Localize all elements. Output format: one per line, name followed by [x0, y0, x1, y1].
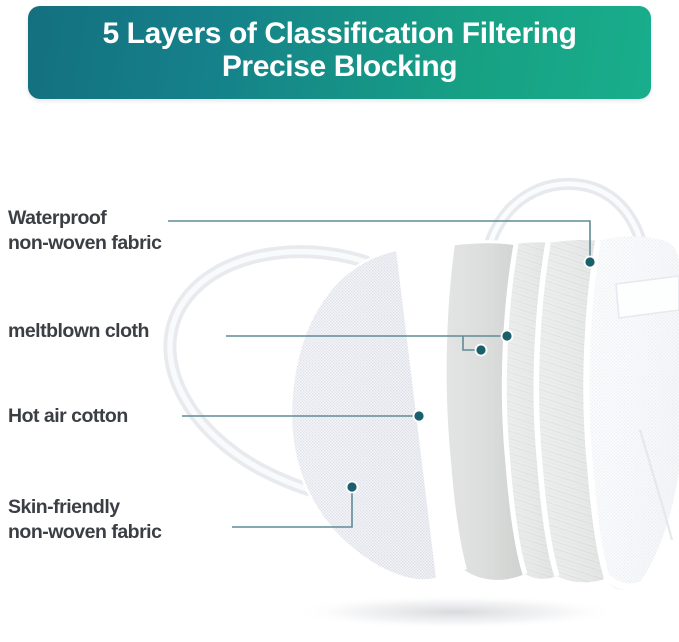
layer-2-hot-air-cotton	[291, 242, 525, 581]
callout-meltblown-line1: meltblown cloth	[8, 319, 149, 344]
leader-line-hot-air-cotton	[182, 410, 425, 423]
ear-loop-left	[170, 252, 366, 502]
header-banner: 5 Layers of Classification Filtering Pre…	[28, 6, 651, 99]
banner-title-line2: Precise Blocking	[222, 51, 457, 83]
leader-dot-meltblown-1	[502, 331, 511, 340]
callout-label-waterproof: Waterproof non-woven fabric	[8, 206, 161, 256]
callout-skin-line2: non-woven fabric	[8, 520, 161, 545]
leader-line-skin-friendly	[232, 481, 358, 527]
drop-shadow	[290, 595, 620, 629]
callout-label-meltblown: meltblown cloth	[8, 319, 149, 344]
leader-dot-hot-air-cotton	[414, 411, 423, 420]
callout-waterproof-line2: non-woven fabric	[8, 231, 161, 256]
nose-clip-strip	[616, 276, 679, 318]
layer-4-meltblown-cloth-2	[536, 240, 607, 582]
leader-dot-meltblown-2	[476, 345, 485, 354]
callout-label-hot-air-cotton: Hot air cotton	[8, 404, 128, 429]
leader-dot-waterproof	[585, 257, 594, 266]
layer-1-skin-friendly-non-woven	[291, 250, 436, 580]
ear-loop-right	[485, 184, 647, 300]
callout-label-skin-friendly: Skin-friendly non-woven fabric	[8, 495, 161, 545]
callout-skin-line1: Skin-friendly	[8, 495, 161, 520]
leader-line-waterproof	[168, 221, 596, 268]
leader-line-meltblown	[226, 330, 513, 357]
banner-title-line1: 5 Layers of Classification Filtering	[102, 18, 576, 50]
layer-5-outer-shell-waterproof	[586, 236, 679, 590]
callout-waterproof-line1: Waterproof	[8, 206, 161, 231]
leader-dot-skin-friendly	[347, 482, 356, 491]
layer-3-meltblown-cloth	[504, 242, 557, 578]
callout-hotair-line1: Hot air cotton	[8, 404, 128, 429]
